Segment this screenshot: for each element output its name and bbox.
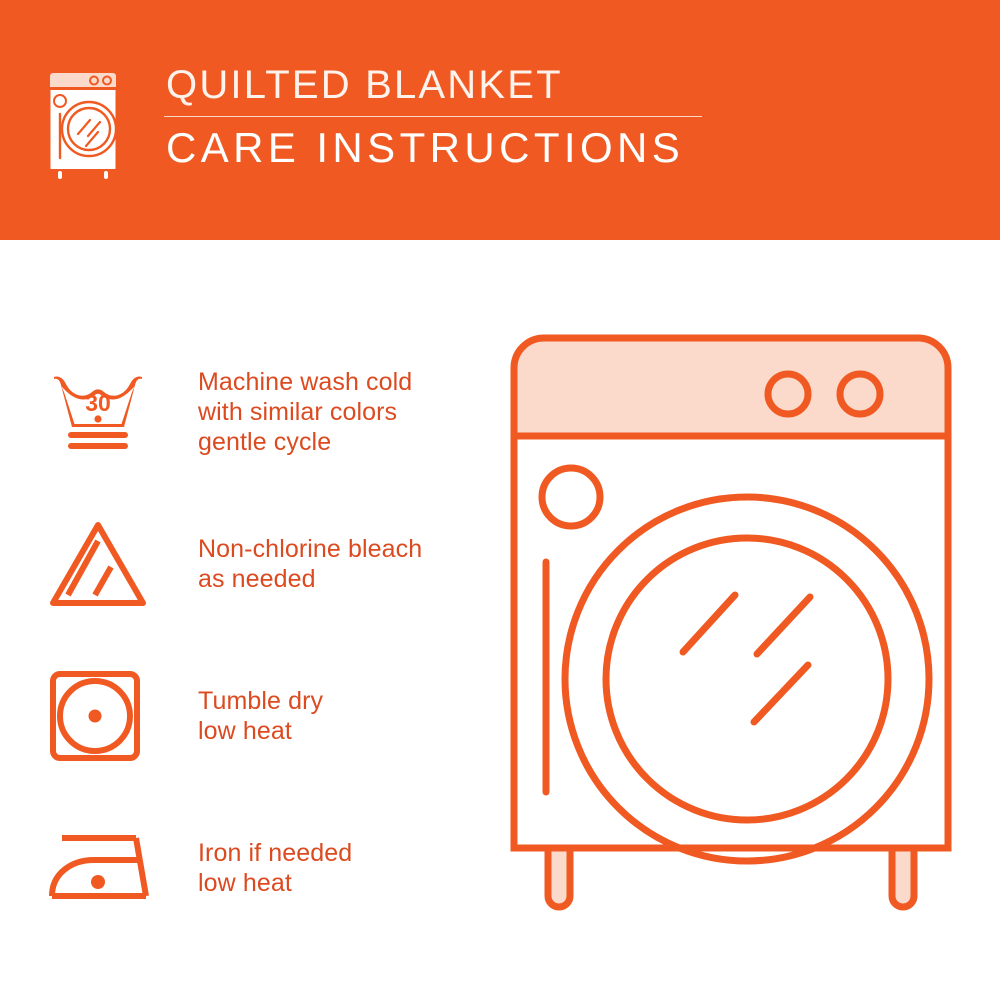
care-label: Non-chlorine bleach as needed [198, 534, 422, 594]
washing-machine-icon [44, 66, 136, 184]
leg-right [892, 848, 914, 907]
care-symbol-wrapper [48, 669, 166, 763]
care-instruction-list: 30 Machine wash cold with similar colors… [48, 336, 468, 944]
care-row: 30 Machine wash cold with similar colors… [48, 336, 468, 488]
title-divider [164, 116, 702, 117]
front-load-washing-machine-illustration [492, 332, 970, 932]
non-chlorine-bleach-triangle-icon [48, 519, 148, 609]
header-banner: QUILTED BLANKET CARE INSTRUCTIONS [0, 0, 1000, 240]
care-row: Iron if needed low heat [48, 792, 468, 944]
care-label: Tumble dry low heat [198, 686, 323, 746]
page-title-secondary: CARE INSTRUCTIONS [162, 123, 702, 173]
care-row: Non-chlorine bleach as needed [48, 488, 468, 640]
wash-temperature-label: 30 [85, 390, 111, 416]
header-title-group: QUILTED BLANKET CARE INSTRUCTIONS [162, 62, 702, 173]
page-title-primary: QUILTED BLANKET [162, 62, 702, 108]
leg-left [548, 848, 570, 907]
control-panel-fill [514, 338, 948, 436]
tumble-dry-low-icon [48, 669, 142, 763]
care-label: Iron if needed low heat [198, 838, 352, 898]
care-symbol-wrapper [48, 828, 166, 908]
care-row: Tumble dry low heat [48, 640, 468, 792]
care-symbol-wrapper: 30 [48, 369, 166, 455]
care-instructions-page: QUILTED BLANKET CARE INSTRUCTIONS 30 [0, 0, 1000, 1000]
header-content: QUILTED BLANKET CARE INSTRUCTIONS [44, 62, 702, 184]
care-label: Machine wash cold with similar colors ge… [198, 367, 412, 457]
wash-tub-30-gentle-icon: 30 [48, 369, 148, 455]
care-symbol-wrapper [48, 519, 166, 609]
iron-low-heat-icon [48, 828, 154, 908]
